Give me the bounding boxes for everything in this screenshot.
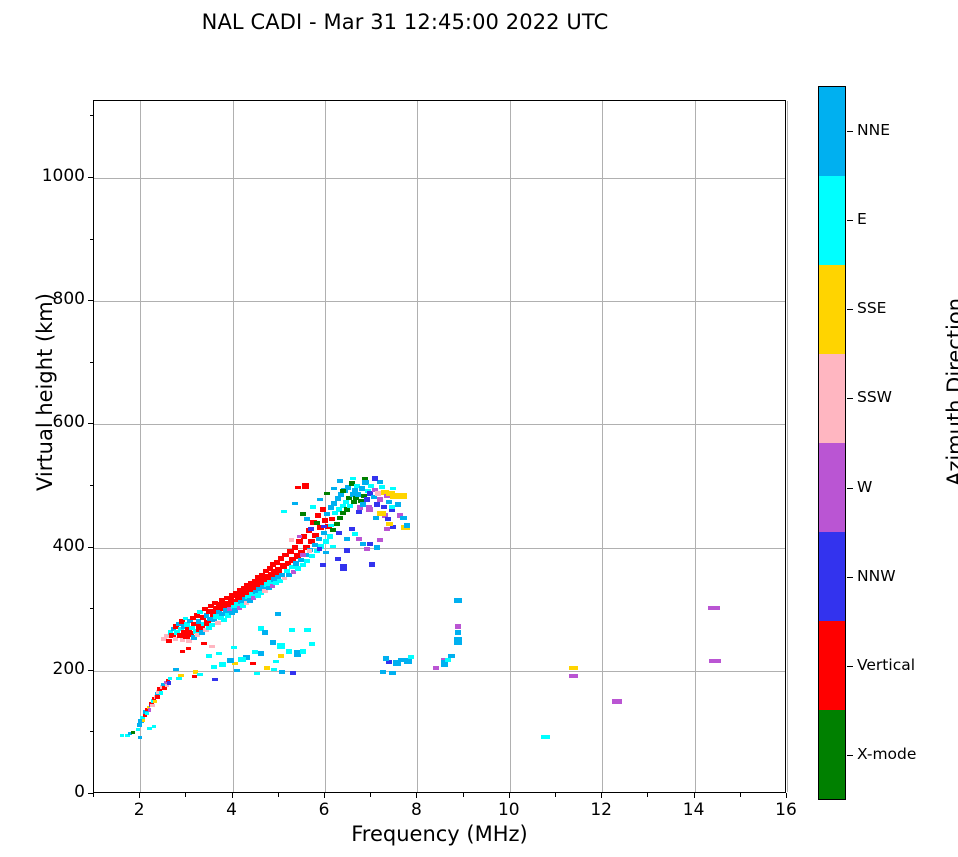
echo-point-e: [390, 487, 396, 491]
echo-point-ssw: [215, 621, 221, 625]
echo-point-ssw: [307, 549, 313, 553]
colorbar-segment-vertical: [819, 621, 845, 710]
echo-point-vertical: [322, 518, 328, 523]
echo-point-nnw: [386, 660, 392, 664]
echo-point-e: [206, 654, 212, 658]
echo-point-e: [328, 524, 334, 528]
colorbar-segment-w: [819, 443, 845, 532]
colorbar: [818, 86, 846, 800]
x-tick-label: 4: [202, 800, 262, 820]
echo-point-sse: [386, 522, 392, 526]
colorbar-label-x-mode: X-mode: [857, 745, 916, 763]
echo-point-w: [612, 699, 621, 703]
echo-point-nne: [371, 495, 377, 499]
echo-point-nnw: [308, 527, 314, 531]
colorbar-label-sse: SSE: [857, 299, 886, 317]
echo-point-e: [304, 559, 310, 563]
x-tick-minor: [463, 793, 464, 797]
echo-point-w: [297, 535, 303, 539]
colorbar-segment-sse: [819, 265, 845, 354]
echo-point-nne: [316, 537, 322, 541]
echo-point-nne: [258, 651, 264, 656]
colorbar-segment-ssw: [819, 354, 845, 443]
echo-point-e: [300, 563, 306, 567]
echo-point-nne: [292, 502, 298, 505]
y-tick-label: 1000: [15, 166, 85, 186]
colorbar-segment-nne: [819, 87, 845, 176]
x-tick: [509, 793, 510, 798]
echo-point-nnw: [321, 525, 327, 529]
echo-point-ssw: [186, 639, 192, 643]
echo-point-w: [708, 606, 720, 610]
x-tick-label: 14: [664, 800, 724, 820]
echo-point-e: [120, 734, 124, 737]
echo-point-nnw: [372, 476, 378, 480]
echo-point-w: [384, 527, 390, 531]
echo-point-e: [304, 628, 310, 632]
x-tick-minor: [647, 793, 648, 797]
ionogram-figure: NAL CADI - Mar 31 12:45:00 2022 UTC 2468…: [0, 0, 958, 857]
echo-point-nnw: [212, 678, 218, 681]
echo-point-w: [377, 497, 383, 501]
echo-point-nnw: [335, 557, 341, 561]
echo-point-x-mode: [314, 521, 320, 525]
y-tick: [88, 177, 93, 178]
echo-point-vertical: [201, 642, 207, 645]
echo-point-e: [216, 652, 222, 656]
echo-point-vertical: [302, 483, 309, 490]
echo-point-nnw: [349, 527, 355, 531]
y-tick: [88, 300, 93, 301]
echo-point-nnw: [385, 517, 391, 521]
echo-point-x-mode: [344, 507, 350, 511]
x-tick-label: 16: [756, 800, 816, 820]
colorbar-tick: [847, 220, 853, 221]
echo-point-e: [289, 565, 295, 569]
echo-point-e: [389, 505, 395, 509]
echo-point-e: [219, 662, 225, 667]
colorbar-tick: [847, 309, 853, 310]
echo-point-vertical: [315, 513, 321, 517]
echo-point-e: [254, 672, 260, 675]
colorbar-tick: [847, 577, 853, 578]
echo-point-nne: [324, 512, 330, 516]
x-tick: [139, 793, 140, 798]
colorbar-segment-nnw: [819, 532, 845, 621]
echo-point-sse: [377, 511, 385, 516]
echo-point-e: [281, 510, 287, 513]
echo-point-ssw: [150, 704, 155, 707]
colorbar-tick: [847, 488, 853, 489]
echo-point-x-mode: [324, 492, 330, 496]
echo-point-e: [289, 628, 295, 632]
colorbar-label-ssw: SSW: [857, 388, 892, 406]
echo-point-e: [352, 532, 358, 536]
x-axis-title: Frequency (MHz): [93, 822, 786, 846]
echo-point-e: [159, 691, 163, 694]
echo-point-nne: [138, 736, 142, 739]
echo-point-e: [273, 660, 279, 664]
y-tick-minor: [90, 731, 94, 732]
echo-point-w: [569, 674, 578, 678]
echo-point-x-mode: [337, 516, 343, 520]
echo-point-e: [147, 727, 151, 730]
echo-point-nne: [331, 487, 337, 491]
echo-point-nne: [380, 670, 386, 674]
colorbar-title: Azimuth Direction: [943, 227, 958, 557]
page-title: NAL CADI - Mar 31 12:45:00 2022 UTC: [0, 10, 810, 34]
echo-point-nne: [373, 516, 379, 520]
y-tick-minor: [90, 485, 94, 486]
echo-point-e: [145, 712, 149, 715]
echo-point-nne: [454, 637, 462, 645]
echo-point-nnw: [344, 548, 350, 553]
echo-point-nne: [298, 558, 304, 562]
echo-point-e: [211, 665, 217, 669]
echo-point-x-mode: [300, 512, 306, 516]
y-tick-minor: [90, 115, 94, 116]
x-tick-minor: [93, 793, 94, 797]
echo-point-nne: [173, 668, 179, 671]
colorbar-label-vertical: Vertical: [857, 656, 915, 674]
echo-point-nne: [293, 561, 299, 565]
colorbar-segment-e: [819, 176, 845, 265]
echo-point-w: [291, 570, 296, 574]
echo-point-e: [327, 534, 333, 538]
echo-point-nnw: [364, 497, 370, 501]
echo-point-e: [221, 618, 227, 622]
echo-point-nnw: [340, 564, 347, 571]
x-tick: [324, 793, 325, 798]
x-tick-label: 8: [386, 800, 446, 820]
echo-point-sse: [397, 493, 407, 499]
y-tick-label: 200: [15, 659, 85, 679]
echo-point-w: [709, 659, 721, 663]
x-tick-minor: [185, 793, 186, 797]
y-tick-minor: [90, 362, 94, 363]
x-tick-minor: [740, 793, 741, 797]
y-tick-minor: [90, 608, 94, 609]
echo-point-sse: [278, 654, 284, 658]
y-tick: [88, 547, 93, 548]
echo-point-nne: [323, 551, 329, 555]
echo-point-nne: [337, 479, 343, 483]
x-tick: [416, 793, 417, 798]
x-tick: [601, 793, 602, 798]
echo-point-e: [231, 646, 237, 650]
echo-point-x-mode: [351, 500, 357, 504]
echo-point-x-mode: [362, 477, 368, 481]
echo-point-nne: [360, 542, 366, 546]
echo-point-x-mode: [131, 731, 135, 734]
echo-point-e: [197, 673, 203, 676]
echo-point-w: [148, 708, 152, 712]
echo-point-w: [377, 538, 383, 542]
echo-point-nnw: [320, 563, 326, 567]
echo-point-nnw: [381, 505, 387, 509]
echo-point-nne: [404, 523, 410, 527]
y-tick-minor: [90, 239, 94, 240]
echo-point-nne: [400, 516, 406, 520]
echo-point-vertical: [155, 695, 160, 699]
echo-point-nnw: [290, 671, 296, 675]
echo-point-nne: [344, 537, 350, 541]
echo-point-e: [541, 735, 550, 739]
gridline-vertical: [787, 101, 788, 792]
echo-point-ssw: [209, 645, 215, 648]
x-tick-minor: [555, 793, 556, 797]
echo-point-w: [356, 537, 362, 541]
echo-point-nne: [227, 658, 233, 663]
echo-point-e: [286, 649, 292, 654]
x-tick-label: 12: [571, 800, 631, 820]
echo-point-e: [168, 677, 172, 680]
echo-point-ssw: [289, 538, 295, 542]
colorbar-label-e: E: [857, 210, 867, 228]
colorbar-tick: [847, 131, 853, 132]
echo-point-sse: [142, 719, 146, 722]
colorbar-tick: [847, 755, 853, 756]
echo-point-e: [332, 511, 338, 515]
echo-point-e: [445, 658, 451, 662]
colorbar-tick: [847, 666, 853, 667]
echo-point-sse: [264, 666, 270, 670]
y-tick: [88, 423, 93, 424]
echo-point-nne: [317, 498, 323, 502]
echo-point-sse: [569, 666, 578, 670]
echo-point-sse: [153, 700, 157, 703]
echo-point-e: [176, 677, 182, 680]
x-tick: [232, 793, 233, 798]
echo-point-e: [330, 545, 336, 549]
x-tick: [786, 793, 787, 798]
echo-point-nne: [275, 612, 281, 616]
echo-point-nne: [328, 505, 334, 509]
colorbar-label-nnw: NNW: [857, 567, 896, 585]
x-tick-label: 10: [479, 800, 539, 820]
echo-point-e: [238, 657, 245, 663]
echo-point-nne: [279, 670, 285, 673]
colorbar-label-w: W: [857, 478, 872, 496]
echo-point-vertical: [186, 647, 192, 650]
echo-point-nnw: [167, 681, 171, 685]
echo-point-nnw: [317, 547, 323, 551]
echo-point-vertical: [296, 539, 302, 544]
echo-point-vertical: [295, 486, 301, 489]
y-axis-title: Virtual height (km): [33, 227, 57, 557]
echo-point-e: [300, 649, 306, 654]
echo-point-e: [277, 643, 284, 649]
echo-point-nnw: [367, 542, 373, 546]
echo-point-e: [347, 504, 353, 508]
echo-point-nne: [270, 640, 276, 645]
data-points-layer: [94, 101, 785, 792]
echo-point-e: [295, 566, 301, 570]
echo-point-e: [309, 554, 315, 558]
echo-point-e: [271, 668, 277, 671]
echo-point-nne: [383, 656, 389, 660]
echo-point-nnw: [369, 562, 375, 567]
echo-point-nne: [234, 669, 240, 672]
echo-point-nne: [304, 517, 310, 521]
x-tick-label: 6: [294, 800, 354, 820]
echo-point-e: [408, 655, 414, 659]
echo-point-vertical: [292, 545, 298, 550]
echo-point-vertical: [250, 662, 256, 665]
echo-point-nne: [393, 660, 400, 666]
echo-point-nnw: [374, 502, 380, 506]
colorbar-label-nne: NNE: [857, 121, 890, 139]
echo-point-nne: [331, 501, 337, 506]
echo-point-e: [310, 505, 316, 509]
echo-point-vertical: [166, 639, 172, 643]
plot-area: [93, 100, 786, 793]
echo-point-nne: [137, 723, 143, 726]
echo-point-e: [323, 539, 329, 543]
echo-point-x-mode: [340, 511, 346, 515]
echo-point-nnw: [336, 531, 342, 535]
y-tick: [88, 670, 93, 671]
echo-point-nne: [374, 545, 380, 549]
x-tick-label: 2: [109, 800, 169, 820]
echo-point-ssw: [282, 577, 288, 581]
echo-point-nne: [377, 480, 383, 484]
echo-point-nne: [395, 502, 401, 506]
echo-point-nne: [262, 630, 268, 635]
echo-point-nnw: [356, 510, 362, 514]
y-tick: [88, 793, 93, 794]
colorbar-segment-x-mode: [819, 710, 845, 799]
echo-point-e: [252, 650, 258, 654]
x-tick: [694, 793, 695, 798]
echo-point-nne: [386, 500, 392, 504]
echo-point-e: [136, 728, 141, 731]
echo-point-x-mode: [340, 489, 346, 493]
colorbar-tick: [847, 398, 853, 399]
echo-point-w: [455, 624, 461, 628]
echo-point-e: [350, 477, 356, 481]
echo-point-x-mode: [334, 522, 340, 526]
echo-point-nne: [455, 630, 461, 634]
echo-point-vertical: [180, 650, 186, 653]
echo-point-vertical: [329, 517, 335, 521]
x-tick-minor: [370, 793, 371, 797]
echo-point-nne: [454, 598, 461, 603]
echo-point-w: [364, 547, 370, 551]
y-tick-label: 0: [15, 782, 85, 802]
echo-point-e: [309, 642, 315, 646]
echo-point-e: [152, 725, 156, 728]
echo-point-nne: [389, 671, 395, 675]
x-tick-minor: [278, 793, 279, 797]
echo-point-w: [300, 553, 306, 557]
echo-point-w: [433, 666, 439, 670]
echo-point-w: [366, 507, 372, 511]
